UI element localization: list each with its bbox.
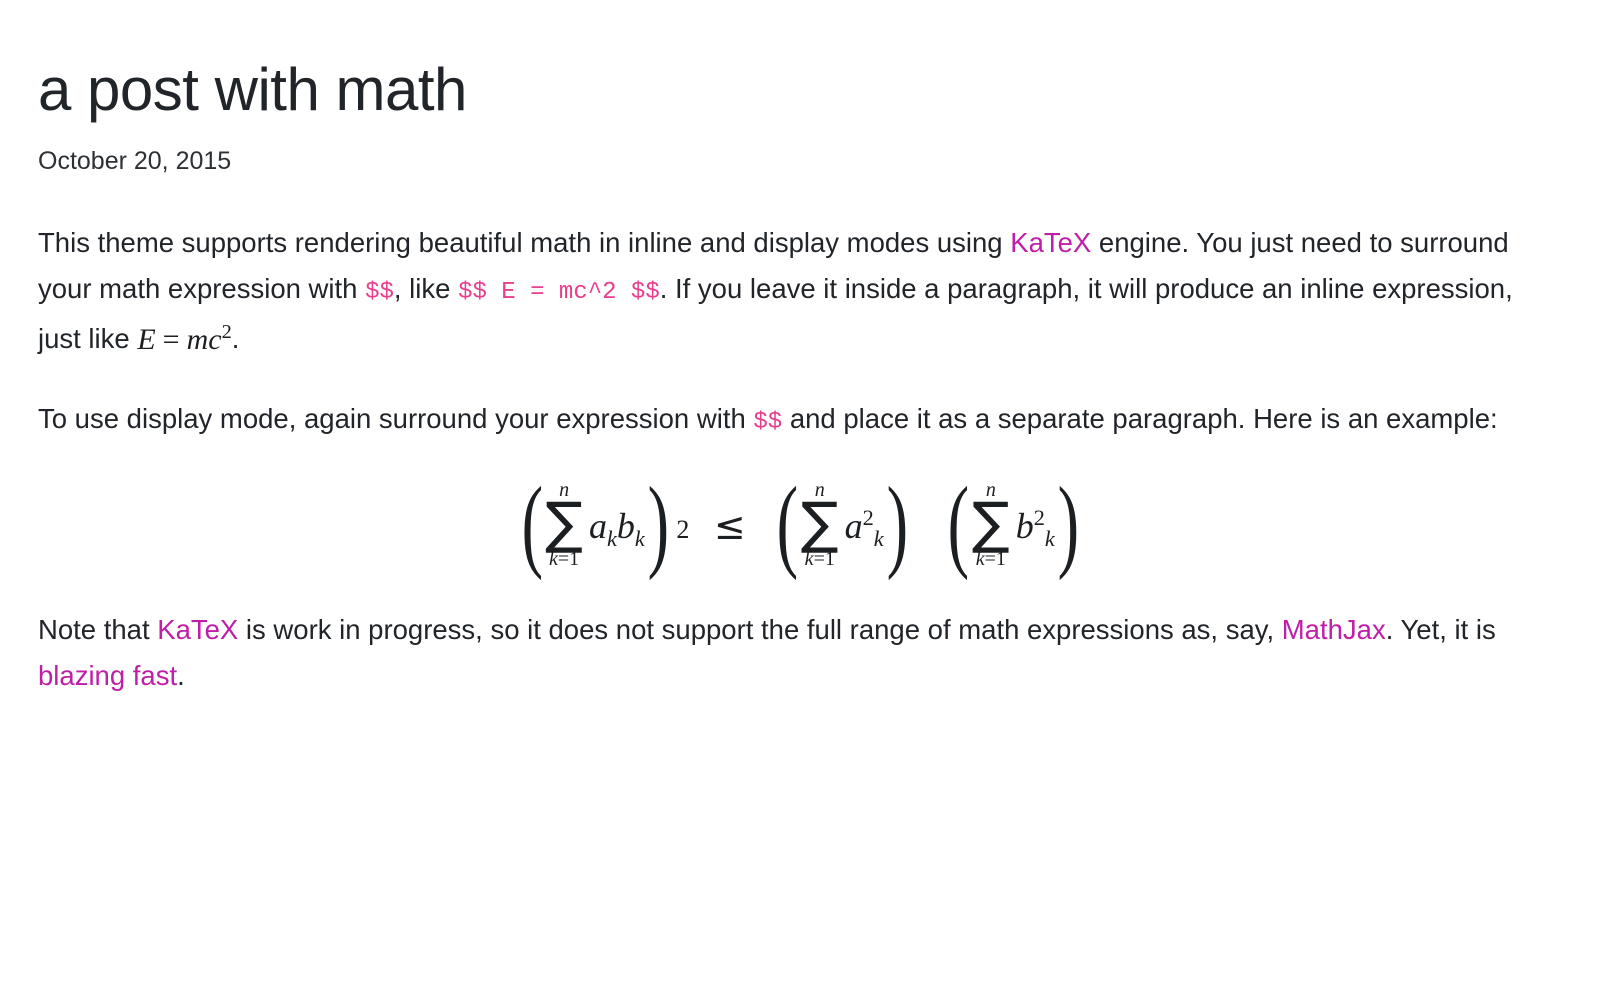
inline-code-dollars: $$ [365,279,394,306]
math-exponent-2: 2 [676,517,689,543]
math-group-middle: ( n ∑ k=1 a2k ) [770,480,914,569]
post-date: October 20, 2015 [38,145,1562,178]
math-op-equals: = [156,323,187,356]
paragraph-note: Note that KaTeX is work in progress, so … [38,607,1530,699]
paragraph-text: . [177,660,185,691]
sum-lower-var: k [549,548,558,570]
paren-right-icon: ) [1057,487,1078,562]
summation-1: n ∑ k=1 [545,480,583,569]
math-var-E: E [137,323,155,356]
sigma-icon: ∑ [972,501,1010,547]
sum-lower-var: k [805,548,814,570]
math-var-c: c [208,323,221,356]
math-sub-k: k [1045,526,1055,551]
paragraph-text: , like [394,273,458,304]
paragraph-text: . Yet, it is [1386,614,1496,645]
math-group-left: ( n ∑ k=1 akbk ) 2 [515,480,690,569]
math-var-b: b [1016,506,1034,546]
paragraph-text: . [232,323,240,354]
link-katex[interactable]: KaTeX [157,614,238,645]
paragraph-text: To use display mode, again surround your… [38,403,753,434]
sum-lower-eq: = [814,548,825,570]
math-term-bk2: b2k [1016,508,1055,544]
math-var-a: a [845,506,863,546]
math-sub-k: k [635,526,645,551]
sigma-icon: ∑ [545,501,583,547]
sum-lower-limit: k=1 [805,549,835,569]
math-term-akbk: akbk [589,508,645,544]
paragraph-text: This theme supports rendering beautiful … [38,227,1010,258]
math-var-m: m [187,323,209,356]
inline-code-example: $$ E = mc^2 $$ [458,279,660,306]
sum-lower-val: 1 [825,548,835,570]
summation-2: n ∑ k=1 [801,480,839,569]
page-title: a post with math [38,56,1562,123]
link-blazing-fast[interactable]: blazing fast [38,660,177,691]
paragraph-display-intro: To use display mode, again surround your… [38,396,1530,446]
inline-code-dollars: $$ [753,409,782,436]
sum-lower-eq: = [558,548,569,570]
sum-lower-eq: = [985,548,996,570]
paragraph-text: and place it as a separate paragraph. He… [782,403,1497,434]
sum-lower-limit: k=1 [976,549,1006,569]
math-relation-leq: ≤ [698,507,762,545]
link-katex[interactable]: KaTeX [1010,227,1091,258]
inline-math-emc2: E=mc2 [137,317,231,363]
paren-right-icon: ) [886,487,907,562]
sum-lower-val: 1 [569,548,579,570]
math-sub-k: k [607,526,617,551]
paragraph-text: Note that [38,614,157,645]
math-exponent-2: 2 [222,321,232,343]
math-var-b: b [617,506,635,546]
paren-right-icon: ) [647,487,668,562]
paragraph-intro: This theme supports rendering beautiful … [38,220,1530,362]
math-term-ak2: a2k [845,508,884,544]
math-sub-k: k [874,526,884,551]
cauchy-schwarz-equation: ( n ∑ k=1 akbk ) 2 ≤ ( n ∑ k=1 a2k [515,480,1086,569]
paren-left-icon: ( [948,487,969,562]
sigma-icon: ∑ [801,501,839,547]
paren-left-icon: ( [777,487,798,562]
post-page: a post with math October 20, 2015 This t… [0,0,1600,1000]
paragraph-text: is work in progress, so it does not supp… [238,614,1281,645]
display-math-block: ( n ∑ k=1 akbk ) 2 ≤ ( n ∑ k=1 a2k [38,480,1562,569]
math-group-right: ( n ∑ k=1 b2k ) [941,480,1085,569]
math-exponent-2: 2 [863,505,874,530]
sum-lower-limit: k=1 [549,549,579,569]
link-mathjax[interactable]: MathJax [1282,614,1386,645]
math-var-a: a [589,506,607,546]
sum-lower-var: k [976,548,985,570]
summation-3: n ∑ k=1 [972,480,1010,569]
math-exponent-2: 2 [1034,505,1045,530]
sum-lower-val: 1 [996,548,1006,570]
paren-left-icon: ( [521,487,542,562]
